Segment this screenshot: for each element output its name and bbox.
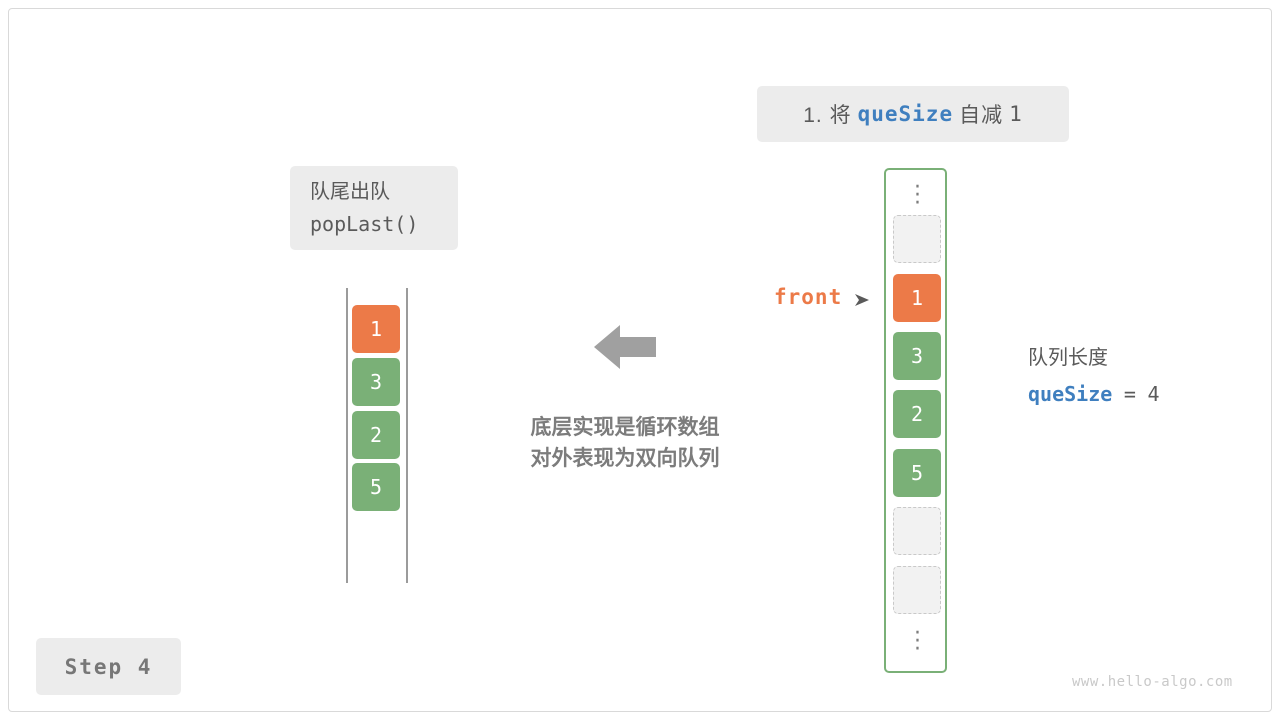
center-caption: 底层实现是循环数组 对外表现为双向队列 [500, 412, 750, 474]
array-slot [893, 507, 941, 555]
ellipsis-top-icon: ··· [886, 184, 949, 208]
instruction-prefix: 1. 将 [803, 99, 851, 129]
step-badge: Step 4 [36, 638, 181, 695]
instruction-suffix: 自减 [959, 99, 1003, 129]
queue-size-equals: = [1124, 382, 1136, 406]
deque-cell: 2 [352, 411, 400, 459]
deque-cell: 1 [352, 305, 400, 353]
deque-rail-right [406, 288, 408, 583]
diagram-canvas: 1. 将 queSize 自减 1 队尾出队 popLast() 1 3 2 5… [0, 0, 1280, 720]
operation-label-box: 队尾出队 popLast() [290, 166, 458, 250]
array-slot [893, 215, 941, 263]
watermark: www.hello-algo.com [1072, 674, 1233, 690]
array-slot [893, 566, 941, 614]
caption-line-1: 底层实现是循环数组 [500, 412, 750, 443]
queue-size-title: 队列长度 [1028, 340, 1160, 376]
ellipsis-bottom-icon: ··· [886, 630, 949, 654]
deque-cell: 3 [352, 358, 400, 406]
array-slot: 3 [893, 332, 941, 380]
circular-array: ··· 1 3 2 5 ··· [884, 168, 947, 673]
array-slot: 2 [893, 390, 941, 438]
queue-size-info: 队列长度 queSize = 4 [1028, 340, 1160, 413]
front-pointer-arrow-icon [855, 292, 873, 308]
operation-title: 队尾出队 [310, 176, 390, 208]
queue-size-var: queSize [1028, 382, 1112, 406]
step-instruction-box: 1. 将 queSize 自减 1 [757, 86, 1069, 142]
operation-method: popLast() [310, 208, 418, 240]
queue-size-value: 4 [1147, 382, 1159, 406]
front-pointer-label: front [774, 285, 842, 309]
deque-cell: 5 [352, 463, 400, 511]
caption-line-2: 对外表现为双向队列 [500, 443, 750, 474]
instruction-code: queSize [858, 102, 954, 126]
instruction-number: 1 [1009, 102, 1023, 126]
deque-rail-left [346, 288, 348, 583]
array-slot: 1 [893, 274, 941, 322]
left-arrow-icon [594, 322, 656, 372]
array-slot: 5 [893, 449, 941, 497]
